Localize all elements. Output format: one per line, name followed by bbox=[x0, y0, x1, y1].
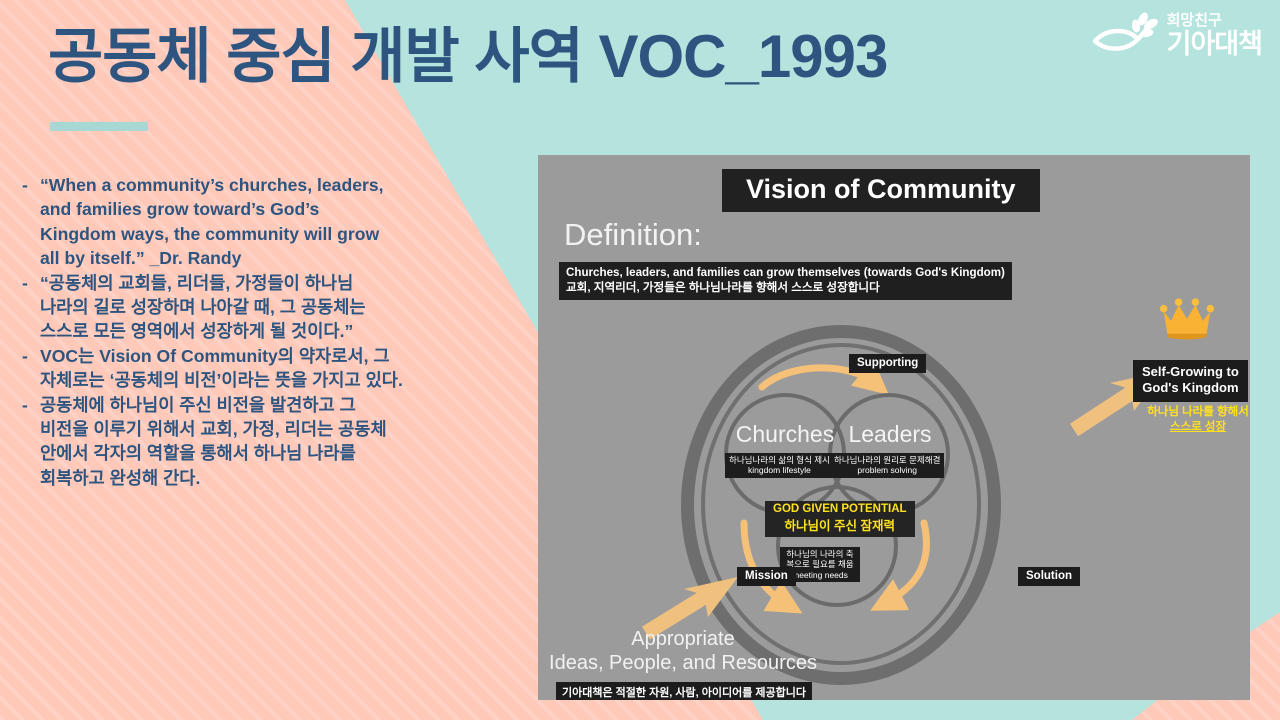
bullet-dash: - bbox=[22, 174, 33, 197]
bullet-text: Kingdom ways, the community will grow bbox=[40, 223, 522, 246]
chip-mission: Mission bbox=[737, 567, 796, 586]
kingdom-label-ko: 하나님 나라를 향해서 스스로 성장 bbox=[1128, 405, 1250, 435]
inflow-label-ko: 기아대책은 적절한 자원, 사람, 아이디어를 제공합니다 bbox=[556, 682, 812, 700]
bullet-line: 자체로는 ‘공동체의 비전’이라는 뜻을 가지고 있다. bbox=[22, 369, 522, 392]
bullet-line: 안에서 각자의 역할을 통해서 하나님 나라를 bbox=[22, 442, 522, 465]
bullet-dash bbox=[22, 296, 33, 319]
bullet-item: -공동체에 하나님이 주신 비전을 발견하고 그 bbox=[22, 394, 522, 417]
bullet-text: and families grow toward’s God’s bbox=[40, 198, 522, 221]
bullet-text: 스스로 모든 영역에서 성장하게 될 것이다.” bbox=[40, 320, 522, 343]
definition-box: Churches, leaders, and families can grow… bbox=[559, 262, 1012, 300]
bullet-list: -“When a community’s churches, leaders,a… bbox=[22, 174, 522, 491]
bullet-dash bbox=[22, 320, 33, 343]
bullet-dash bbox=[22, 247, 33, 270]
bullet-text: 자체로는 ‘공동체의 비전’이라는 뜻을 가지고 있다. bbox=[40, 369, 522, 392]
bullet-line: Kingdom ways, the community will grow bbox=[22, 223, 522, 246]
bullet-item: -“공동체의 교회들, 리더들, 가정들이 하나님 bbox=[22, 272, 522, 295]
note-ko: 하나님나라의 삶의 형식 제시 bbox=[729, 455, 830, 465]
bullet-line: 나라의 길로 성장하며 나아갈 때, 그 공동체는 bbox=[22, 296, 522, 319]
diagram-title: Vision of Community bbox=[722, 169, 1040, 212]
definition-ko: 교회, 지역리더, 가정들은 하나님나라를 향해서 스스로 성장합니다 bbox=[566, 280, 1005, 295]
bullet-dash: - bbox=[22, 345, 33, 368]
chip-supporting: Supporting bbox=[849, 354, 926, 373]
fish-wheat-icon bbox=[1093, 10, 1159, 60]
note-ko: 하나님나라의 원리로 문제해결 bbox=[834, 455, 940, 465]
kingdom-ko-line1: 하나님 나라를 향해서 bbox=[1128, 405, 1250, 420]
crown-icon bbox=[1159, 296, 1215, 347]
bullet-dash bbox=[22, 369, 33, 392]
bullet-text: 안에서 각자의 역할을 통해서 하나님 나라를 bbox=[40, 442, 522, 465]
god-given-potential-box: GOD GIVEN POTENTIAL 하나님이 주신 잠재력 bbox=[765, 501, 915, 537]
bullet-item: -VOC는 Vision Of Community의 약자로서, 그 bbox=[22, 345, 522, 368]
potential-en: GOD GIVEN POTENTIAL bbox=[773, 503, 907, 515]
bubble-note-churches: 하나님나라의 삶의 형식 제시 kingdom lifestyle bbox=[725, 453, 834, 478]
bullet-line: 비전을 이루기 위해서 교회, 가정, 리더는 공동체 bbox=[22, 418, 522, 441]
kingdom-line2: God's Kingdom bbox=[1142, 380, 1239, 396]
bullet-line: 스스로 모든 영역에서 성장하게 될 것이다.” bbox=[22, 320, 522, 343]
vision-of-community-diagram: Vision of Community Definition: Churches… bbox=[538, 155, 1250, 700]
bullet-dash: - bbox=[22, 272, 33, 295]
note-en: kingdom lifestyle bbox=[729, 465, 830, 475]
bullet-dash bbox=[22, 418, 33, 441]
bubble-note-leaders: 하나님나라의 원리로 문제해결 problem solving bbox=[830, 453, 944, 478]
bullet-text: 비전을 이루기 위해서 교회, 가정, 리더는 공동체 bbox=[40, 418, 522, 441]
bullet-line: 회복하고 완성해 간다. bbox=[22, 467, 522, 490]
bullet-line: and families grow toward’s God’s bbox=[22, 198, 522, 221]
chip-solution: Solution bbox=[1018, 567, 1080, 586]
logo-subtitle: 희망친구 bbox=[1167, 13, 1222, 28]
title-underline bbox=[50, 122, 148, 131]
kingdom-ko-line2: 스스로 성장 bbox=[1128, 420, 1250, 435]
bullet-dash bbox=[22, 467, 33, 490]
bullet-dash bbox=[22, 198, 33, 221]
organization-logo: 희망친구 기아대책 bbox=[1093, 10, 1262, 60]
inflow-line2: Ideas, People, and Resources bbox=[548, 652, 818, 676]
bullet-dash: - bbox=[22, 394, 33, 417]
page-title: 공동체 중심 개발 사역 VOC_1993 bbox=[48, 24, 887, 90]
bullet-text: 나라의 길로 성장하며 나아갈 때, 그 공동체는 bbox=[40, 296, 522, 319]
logo-name: 기아대책 bbox=[1167, 31, 1262, 58]
inflow-label: Appropriate Ideas, People, and Resources bbox=[548, 628, 818, 675]
bullet-text: “공동체의 교회들, 리더들, 가정들이 하나님 bbox=[40, 272, 522, 295]
bullet-text: 공동체에 하나님이 주신 비전을 발견하고 그 bbox=[40, 394, 522, 417]
bullet-text: “When a community’s churches, leaders, bbox=[40, 174, 522, 197]
bubble-label-leaders: Leaders bbox=[822, 421, 958, 448]
kingdom-line1: Self-Growing to bbox=[1142, 364, 1239, 380]
bullet-text: 회복하고 완성해 간다. bbox=[40, 467, 522, 490]
inflow-line1: Appropriate bbox=[548, 628, 818, 652]
definition-en: Churches, leaders, and families can grow… bbox=[566, 265, 1005, 280]
note-en: problem solving bbox=[834, 465, 940, 475]
bullet-text: all by itself.” _Dr. Randy bbox=[40, 247, 522, 270]
definition-label: Definition: bbox=[564, 217, 702, 253]
bullet-dash bbox=[22, 223, 33, 246]
bullet-text: VOC는 Vision Of Community의 약자로서, 그 bbox=[40, 345, 522, 368]
bullet-line: all by itself.” _Dr. Randy bbox=[22, 247, 522, 270]
kingdom-label-box: Self-Growing to God's Kingdom bbox=[1133, 360, 1248, 402]
potential-ko: 하나님이 주신 잠재력 bbox=[773, 515, 907, 534]
bullet-item: -“When a community’s churches, leaders, bbox=[22, 174, 522, 197]
bullet-dash bbox=[22, 442, 33, 465]
